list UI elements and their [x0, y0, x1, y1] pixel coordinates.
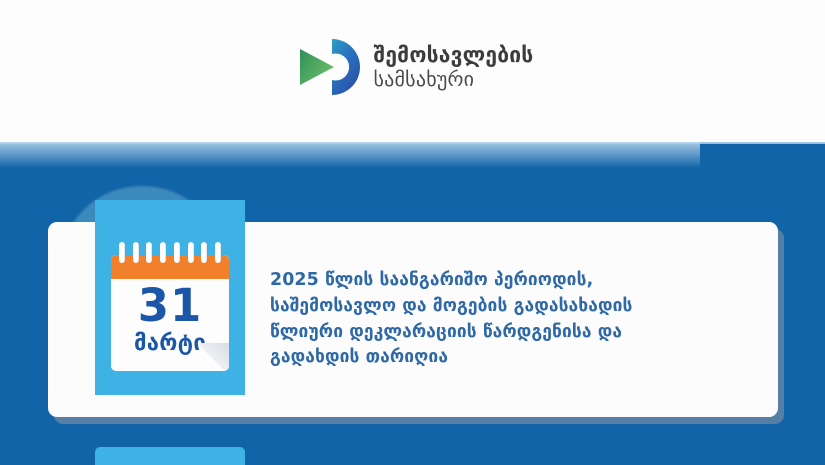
- calendar-icon: 31 მარტი: [111, 246, 229, 371]
- calendar-ring: [188, 242, 194, 263]
- page-header: შემოსავლების სამსახური: [0, 0, 825, 142]
- message-line-1: 2025 წლის საანგარიშო პერიოდის,: [270, 268, 750, 294]
- calendar-ring: [174, 242, 180, 263]
- calendar-ring: [215, 242, 221, 263]
- message-line-3: წლიური დეკლარაციის წარდგენისა და: [270, 320, 750, 346]
- calendar-ring: [160, 242, 166, 263]
- calendar-body: 31 მარტი: [111, 255, 229, 371]
- calendar-ring: [201, 242, 207, 263]
- brand-lockup: შემოსავლების სამსახური: [292, 36, 534, 98]
- message-line-4: გადახდის თარიღია: [270, 345, 750, 371]
- organization-name: შემოსავლების სამსახური: [374, 43, 534, 91]
- calendar-page-fold: [199, 343, 229, 371]
- stage-top-sheen: [0, 142, 700, 168]
- announcement-screen: შემოსავლების სამსახური 31 მარტი: [0, 0, 825, 465]
- calendar-ring: [119, 242, 125, 263]
- calendar-day-number: 31: [111, 283, 229, 328]
- org-name-line-1: შემოსავლების: [374, 43, 534, 68]
- revenue-service-logo-icon: [292, 36, 360, 98]
- calendar-ring: [146, 242, 152, 263]
- cyan-bottom-accent: [95, 447, 245, 465]
- message-line-2: საშემოსავლო და მოგების გადასახადის: [270, 294, 750, 320]
- calendar-ring: [133, 242, 139, 263]
- org-name-line-2: სამსახური: [374, 68, 534, 92]
- announcement-message: 2025 წლის საანგარიშო პერიოდის, საშემოსავ…: [270, 268, 750, 371]
- calendar-rings: [111, 246, 229, 272]
